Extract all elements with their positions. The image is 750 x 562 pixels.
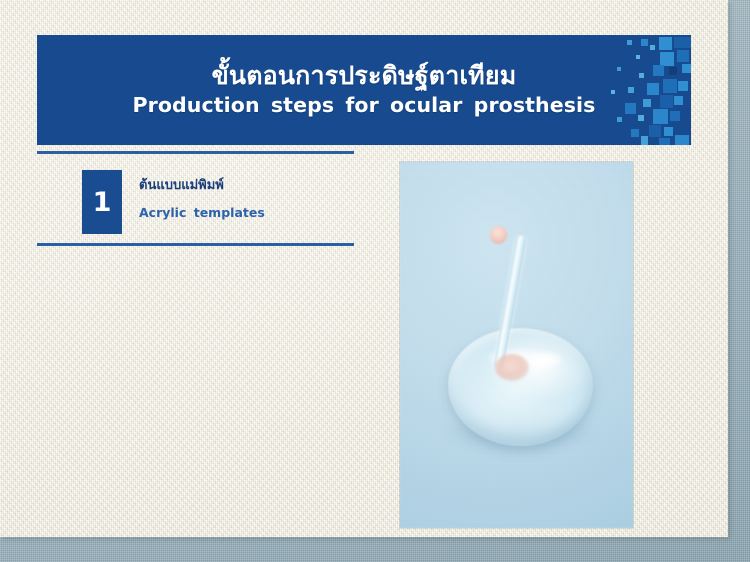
- step-labels: ต้นแบบแม่พิมพ์ Acrylic templates: [139, 177, 354, 222]
- step-block: 1 ต้นแบบแม่พิมพ์ Acrylic templates: [82, 170, 352, 236]
- step-title-thai: ต้นแบบแม่พิมพ์: [139, 177, 354, 196]
- acrylic-dome-shape: [448, 328, 593, 446]
- step-number-badge: 1: [82, 170, 122, 234]
- dome-specular-highlight: [528, 352, 562, 368]
- divider-bottom: [37, 243, 354, 246]
- slide-canvas: ขั้นตอนการประดิษฐ์ตาเทียม Production ste…: [0, 0, 728, 537]
- divider-top: [37, 151, 354, 154]
- header-bar: ขั้นตอนการประดิษฐ์ตาเทียม Production ste…: [37, 35, 691, 145]
- step-title-english: Acrylic templates: [139, 204, 354, 222]
- page-title-thai: ขั้นตอนการประดิษฐ์ตาเทียม: [212, 62, 517, 91]
- slide-backdrop: ขั้นตอนการประดิษฐ์ตาเทียม Production ste…: [0, 0, 750, 562]
- page-title-english: Production steps for ocular prosthesis: [133, 93, 596, 118]
- stem-base-adhesive: [495, 354, 529, 381]
- title-stack: ขั้นตอนการประดิษฐ์ตาเทียม Production ste…: [37, 35, 691, 145]
- acrylic-template-photo: [400, 162, 633, 528]
